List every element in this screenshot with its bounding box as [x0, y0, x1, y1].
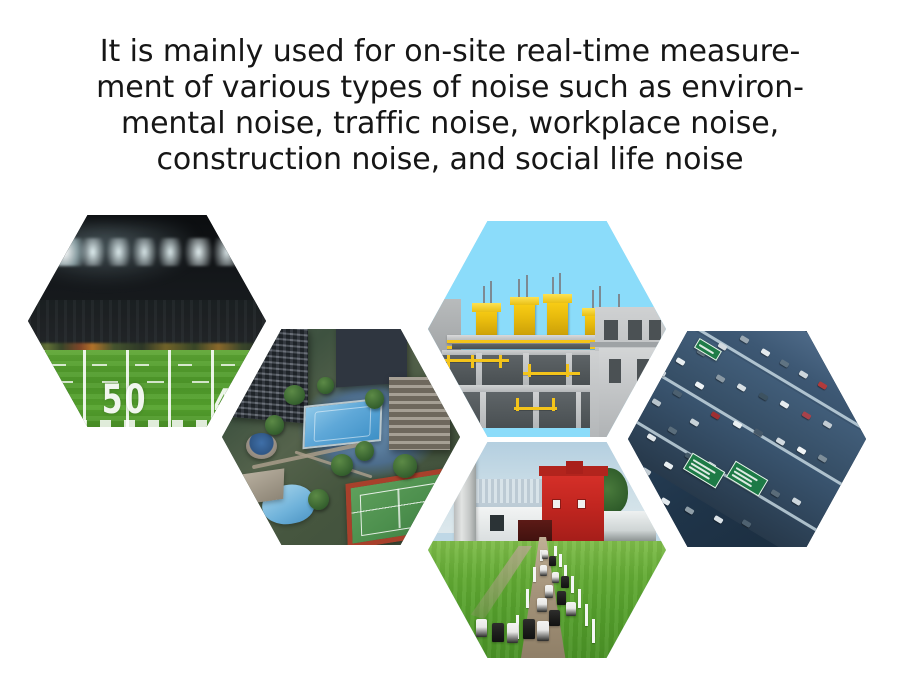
garden-gazebo — [246, 433, 277, 459]
page-root: It is mainly used for on-site real-time … — [0, 0, 900, 676]
barn-wing-door — [490, 515, 504, 530]
barn-cupola — [566, 461, 583, 474]
stadium-scene-image: 5 50 4 — [28, 215, 266, 427]
farm-scene-image — [428, 442, 666, 658]
column-formwork-1 — [476, 307, 497, 337]
hex-tile-residential[interactable] — [222, 329, 460, 545]
yard-line-number: 50 — [102, 377, 148, 424]
hex-tile-farm[interactable] — [428, 442, 666, 658]
garden-pavilion — [236, 468, 284, 505]
traffic-scene-image — [628, 331, 866, 547]
stadium-floodlight-row — [28, 238, 266, 266]
hex-tile-traffic[interactable] — [628, 331, 866, 547]
hex-tile-stadium[interactable]: 5 50 4 — [28, 215, 266, 427]
stadium-turf-field: 5 50 4 — [28, 350, 266, 427]
column-formwork-3 — [547, 299, 568, 338]
column-formwork-2 — [514, 301, 535, 338]
construction-scene-image — [428, 221, 666, 437]
clubhouse-building — [389, 377, 451, 450]
hexagon-image-collage: 5 50 4 — [0, 0, 900, 676]
residential-scene-image — [222, 329, 460, 545]
hex-tile-construction[interactable] — [428, 221, 666, 437]
